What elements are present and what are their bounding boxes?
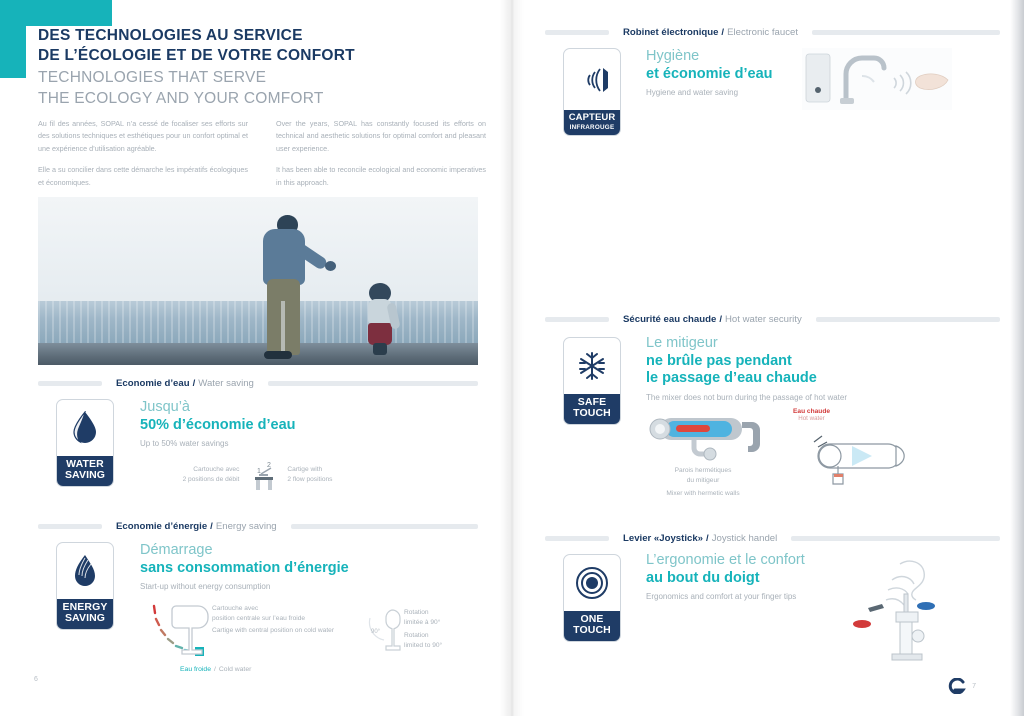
rule-right <box>268 381 478 386</box>
hot-water-label-fr: Eau chaude <box>793 408 830 415</box>
rotation-note-fr-1: Rotation <box>404 608 504 618</box>
section-title-en: Water saving <box>198 378 254 389</box>
energy-note-fr-1: Cartouche avec <box>212 604 347 614</box>
page-number-left: 6 <box>34 676 38 683</box>
footer-logo-area: 7 <box>947 678 976 694</box>
badge-line-2: SAVING <box>57 613 113 625</box>
joystick-faucet-illustration <box>842 550 962 670</box>
block-title-line2: sans consommation d’énergie <box>140 560 490 578</box>
intro-en-paragraph-1: Over the years, SOPAL has constantly foc… <box>276 118 486 155</box>
section-title-fr: Robinet électronique <box>623 27 718 38</box>
intro-column-fr: Au fil des années, SOPAL n’a cessé de fo… <box>38 118 248 198</box>
water-cartridge-note: Cartouche avec 2 positions de débit 2 1 … <box>152 458 342 492</box>
section-title-fr: Sécurité eau chaude <box>623 314 716 325</box>
page-edge-right <box>1010 0 1024 716</box>
block-subtitle: The mixer does not burn during the passa… <box>646 393 906 402</box>
sopal-logo-mark <box>947 678 967 694</box>
hot-water-label-en: Hot water <box>793 415 830 422</box>
section-header-electronic-faucet: Robinet électronique / Electronic faucet <box>545 27 1000 38</box>
mixer-cutaway-diagram <box>648 410 768 466</box>
badge-line-2: SAVING <box>57 470 113 482</box>
section-separator: / <box>193 378 196 389</box>
page-gutter-shadow <box>500 0 524 716</box>
hero-title-en-line2: THE ECOLOGY AND YOUR COMFORT <box>38 89 478 109</box>
section-separator: / <box>210 521 213 532</box>
intro-en-paragraph-2: It has been able to reconcile ecological… <box>276 164 486 189</box>
mixer-outline-diagram <box>800 424 926 486</box>
section-title-fr: Economie d’eau <box>116 378 190 389</box>
badge-caption: SAFE TOUCH <box>564 394 620 425</box>
mixer-caption-en: Mixer with hermetic walls <box>648 489 758 499</box>
section-title-en: Hot water security <box>725 314 802 325</box>
section-separator: / <box>721 27 724 38</box>
svg-text:1: 1 <box>257 468 261 475</box>
block-subtitle: Start-up without energy consumption <box>140 582 490 591</box>
energy-cartridge-note: Cartouche avec position centrale sur l’e… <box>212 604 347 636</box>
corner-bar-vertical <box>0 0 26 78</box>
badge-safe-touch: SAFE TOUCH <box>563 337 621 425</box>
badge-line-2: TOUCH <box>564 408 620 420</box>
page-right: Robinet électronique / Electronic faucet… <box>512 0 1010 716</box>
mixer-caption: Parois hermétiques du mitigeur Mixer wit… <box>648 466 758 499</box>
mixer-caption-fr-1: Parois hermétiques <box>648 466 758 476</box>
cartridge-note-en-2: 2 flow positions <box>287 475 342 485</box>
hero-heading: DES TECHNOLOGIES AU SERVICE DE L’ÉCOLOGI… <box>38 26 478 110</box>
section-title-en: Joystick handel <box>712 533 778 544</box>
block-title-line1: Jusqu’à <box>140 399 470 417</box>
legend-separator: / <box>214 666 216 673</box>
rule-left <box>38 381 102 386</box>
section-title-en: Energy saving <box>216 521 277 532</box>
rule-left <box>545 317 609 322</box>
snowflake-icon <box>564 338 620 394</box>
page-left: DES TECHNOLOGIES AU SERVICE DE L’ÉCOLOGI… <box>0 0 512 716</box>
mixer-caption-fr-2: du mitigeur <box>648 476 758 486</box>
section-header-joystick: Levier «Joystick» / Joystick handel <box>545 533 1000 544</box>
section-header-water-saving: Economie d’eau / Water saving <box>38 378 478 389</box>
section-title-fr: Economie d’énergie <box>116 521 207 532</box>
badge-line-2: INFRAROUGE <box>564 124 620 131</box>
block-subtitle: Up to 50% water savings <box>140 439 470 448</box>
block-title-line1: Démarrage <box>140 542 490 560</box>
section-title-en: Electronic faucet <box>727 27 798 38</box>
hero-photo-beach <box>38 197 478 365</box>
badge-line-1: CAPTEUR <box>564 113 620 124</box>
target-dot-icon <box>564 555 620 611</box>
rotation-note-en-1: Rotation <box>404 631 504 641</box>
badge-caption: ONE TOUCH <box>564 611 620 642</box>
block-title-water-saving: Jusqu’à 50% d’économie d’eau Up to 50% w… <box>140 399 470 448</box>
photo-figure-child <box>361 283 399 353</box>
badge-line-2: TOUCH <box>564 625 620 637</box>
rule-left <box>545 536 609 541</box>
rule-left <box>545 30 609 35</box>
section-header-hot-water-security: Sécurité eau chaude / Hot water security <box>545 314 1000 325</box>
legend-label-en: Cold water <box>219 666 252 673</box>
cartridge-2-positions-icon: 2 1 <box>246 458 280 492</box>
block-title-line2: ne brûle pas pendant <box>646 353 906 371</box>
page-number-right: 7 <box>972 683 976 690</box>
block-title-line3: le passage d’eau chaude <box>646 370 906 388</box>
block-title-hot-water: Le mitigeur ne brûle pas pendant le pass… <box>646 335 906 402</box>
rule-right <box>816 317 1000 322</box>
badge-infrared-sensor: CAPTEUR INFRAROUGE <box>563 48 621 136</box>
section-title-fr: Levier «Joystick» <box>623 533 703 544</box>
section-header-energy-saving: Economie d’énergie / Energy saving <box>38 521 478 532</box>
rotation-note: Rotation limitée à 90° Rotation limited … <box>404 608 504 651</box>
electronic-faucet-photo <box>802 48 952 110</box>
block-title-line1: Le mitigeur <box>646 335 906 353</box>
hero-title-en-line1: TECHNOLOGIES THAT SERVE <box>38 68 478 88</box>
hot-water-label: Eau chaude Hot water <box>793 408 830 422</box>
badge-caption: CAPTEUR INFRAROUGE <box>564 110 620 135</box>
rotation-note-fr-2: limitée à 90° <box>404 618 504 628</box>
intro-fr-paragraph-2: Elle a su concilier dans cette démarche … <box>38 164 248 189</box>
energy-note-fr-2: position centrale sur l’eau froide <box>212 614 347 624</box>
cartridge-note-fr-2: 2 positions de débit <box>152 475 239 485</box>
cold-water-legend: Eau froide / Cold water <box>180 666 251 673</box>
intro-columns: Au fil des années, SOPAL n’a cessé de fo… <box>38 118 486 198</box>
rotation-note-en-2: limited to 90° <box>404 641 504 651</box>
hero-title-fr-line1: DES TECHNOLOGIES AU SERVICE <box>38 26 478 46</box>
photo-figure-adult <box>253 215 321 351</box>
rule-right <box>291 524 478 529</box>
intro-column-en: Over the years, SOPAL has constantly foc… <box>276 118 486 198</box>
angle-text: 90° <box>371 629 381 635</box>
badge-water-saving: WATER SAVING <box>56 399 114 487</box>
brochure-spread: DES TECHNOLOGIES AU SERVICE DE L’ÉCOLOGI… <box>0 0 1024 716</box>
water-drop-icon <box>57 400 113 456</box>
infrared-waves-icon <box>564 49 620 110</box>
rule-right <box>791 536 1000 541</box>
badge-energy-saving: ENERGY SAVING <box>56 542 114 630</box>
cartridge-note-en-1: Cartige with <box>287 465 342 475</box>
rule-left <box>38 524 102 529</box>
section-separator: / <box>706 533 709 544</box>
block-title-line2: 50% d’économie d’eau <box>140 417 470 435</box>
cartridge-note-fr-1: Cartouche avec <box>152 465 239 475</box>
block-title-energy-saving: Démarrage sans consommation d’énergie St… <box>140 542 490 591</box>
rule-right <box>812 30 1000 35</box>
legend-label-fr: Eau froide <box>180 666 211 673</box>
hero-title-fr-line2: DE L’ÉCOLOGIE ET DE VOTRE CONFORT <box>38 46 478 66</box>
badge-one-touch: ONE TOUCH <box>563 554 621 642</box>
section-separator: / <box>719 314 722 325</box>
badge-caption: ENERGY SAVING <box>57 599 113 630</box>
energy-note-en: Cartige with central position on cold wa… <box>212 626 347 636</box>
flame-icon <box>57 543 113 599</box>
intro-fr-paragraph-1: Au fil des années, SOPAL n’a cessé de fo… <box>38 118 248 155</box>
badge-caption: WATER SAVING <box>57 456 113 487</box>
